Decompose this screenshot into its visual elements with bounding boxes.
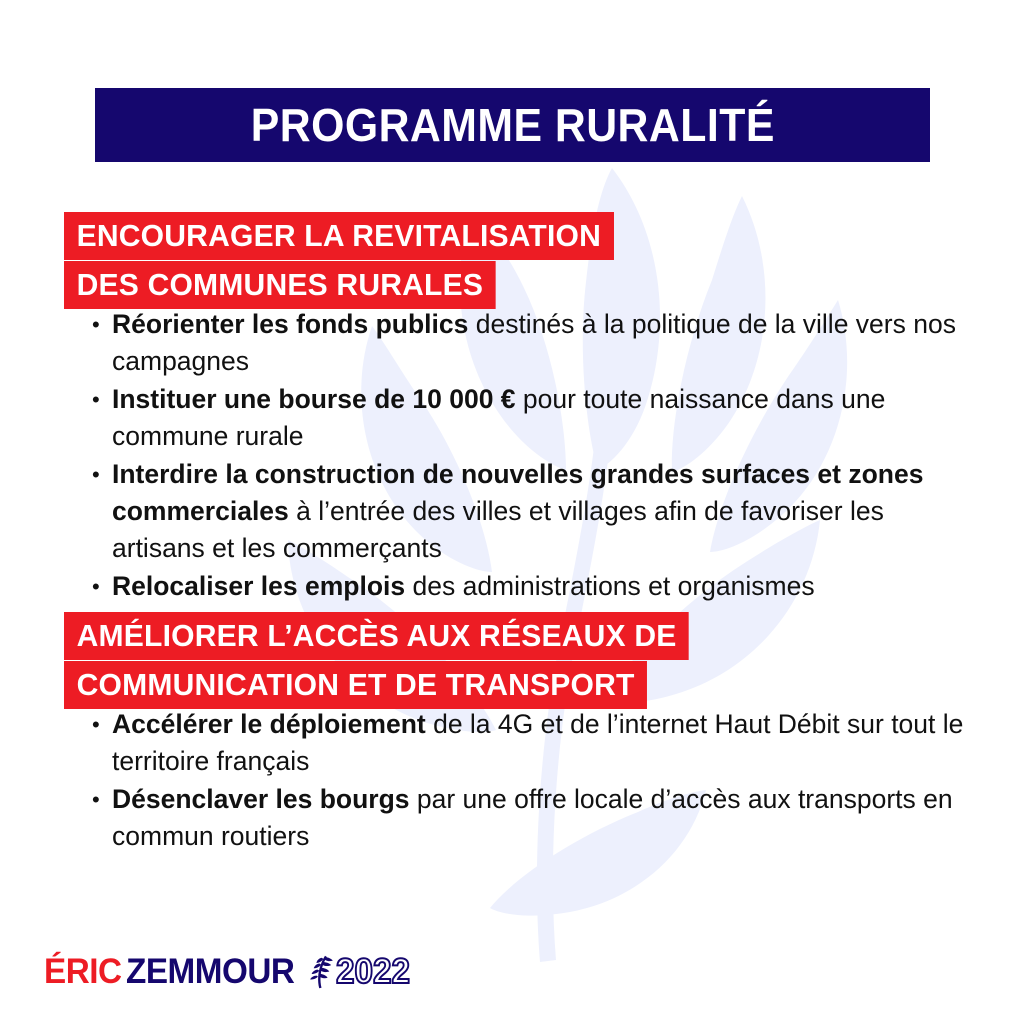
bullet-lead-text: Instituer une bourse de 10 000 €: [112, 384, 516, 414]
wheat-sprig-icon: [305, 955, 335, 989]
bullet-lead-text: Accélérer le déploiement: [112, 709, 426, 739]
logo-year: 2022: [336, 952, 410, 992]
list-item: Accélérer le déploiement de la 4G et de …: [88, 706, 978, 780]
logo-first-name: ÉRIC: [44, 952, 122, 992]
page-title: PROGRAMME RURALITÉ: [250, 98, 774, 152]
list-item: Interdire la construction de nouvelles g…: [88, 456, 978, 567]
section-heading-2: AMÉLIORER L’ACCÈS AUX RÉSEAUX DE COMMUNI…: [64, 612, 964, 709]
list-item: Instituer une bourse de 10 000 € pour to…: [88, 381, 978, 455]
campaign-logo: ÉRIC ZEMMOUR 2022: [44, 952, 414, 992]
section-heading-2-line-2: COMMUNICATION ET DE TRANSPORT: [64, 661, 647, 709]
bullet-lead-text: Réorienter les fonds publics: [112, 309, 468, 339]
bullet-list-2: Accélérer le déploiement de la 4G et de …: [88, 706, 978, 856]
list-item: Désenclaver les bourgs par une offre loc…: [88, 781, 978, 855]
bullet-rest-text: des administrations et organismes: [405, 571, 814, 601]
bullet-lead-text: Désenclaver les bourgs: [112, 784, 410, 814]
bullet-lead-text: Relocaliser les emplois: [112, 571, 405, 601]
logo-last-name: ZEMMOUR: [126, 952, 294, 992]
section-heading-2-line-1: AMÉLIORER L’ACCÈS AUX RÉSEAUX DE: [64, 612, 689, 660]
page-title-banner: PROGRAMME RURALITÉ: [95, 88, 930, 162]
section-heading-1: ENCOURAGER LA REVITALISATION DES COMMUNE…: [64, 212, 964, 309]
bullet-list-1: Réorienter les fonds publics destinés à …: [88, 306, 978, 606]
list-item: Réorienter les fonds publics destinés à …: [88, 306, 978, 380]
section-heading-1-line-1: ENCOURAGER LA REVITALISATION: [64, 212, 614, 260]
list-item: Relocaliser les emplois des administrati…: [88, 568, 978, 605]
section-heading-1-line-2: DES COMMUNES RURALES: [64, 261, 496, 309]
